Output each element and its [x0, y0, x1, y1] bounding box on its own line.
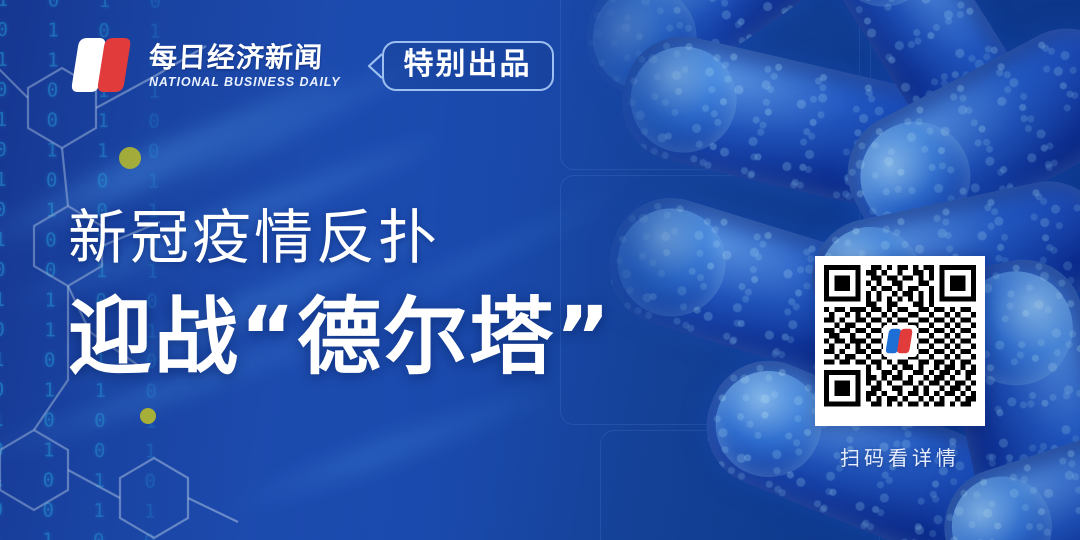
badge-frame: 特别出品: [382, 41, 554, 91]
headline-block: 新冠疫情反扑 迎战“德尔塔”: [68, 205, 612, 382]
brand-logo-text: 每日经济新闻 NATIONAL BUSINESS DAILY: [149, 43, 341, 89]
poster-canvas: 1 0 1 0 0 1 0 1 1 1 0 0 0 0 1 1 1 0 1 0 …: [0, 0, 1080, 540]
brand-header: 每日经济新闻 NATIONAL BUSINESS DAILY 特别出品: [70, 34, 554, 98]
special-edition-badge[interactable]: 特别出品: [367, 41, 554, 91]
brand-name-cn: 每日经济新闻: [148, 43, 341, 72]
left-pointer-notch-icon: [367, 53, 383, 79]
qr-code-block[interactable]: 扫码看详情: [815, 256, 985, 471]
qr-center-nbd-logo-icon: [883, 325, 917, 357]
headline-title: 迎战“德尔塔”: [68, 293, 612, 382]
brand-logo-lockup[interactable]: 每日经济新闻 NATIONAL BUSINESS DAILY: [70, 34, 341, 98]
brand-name-en: NATIONAL BUSINESS DAILY: [149, 76, 341, 89]
headline-subtitle: 新冠疫情反扑: [68, 205, 612, 271]
qr-code-frame[interactable]: [815, 256, 985, 426]
nbd-n-monogram-logo-icon: [70, 34, 136, 98]
badge-label: 特别出品: [404, 50, 532, 80]
qr-caption: 扫码看详情: [840, 442, 960, 471]
poster-content: 每日经济新闻 NATIONAL BUSINESS DAILY 特别出品 新冠疫情…: [0, 0, 1080, 540]
